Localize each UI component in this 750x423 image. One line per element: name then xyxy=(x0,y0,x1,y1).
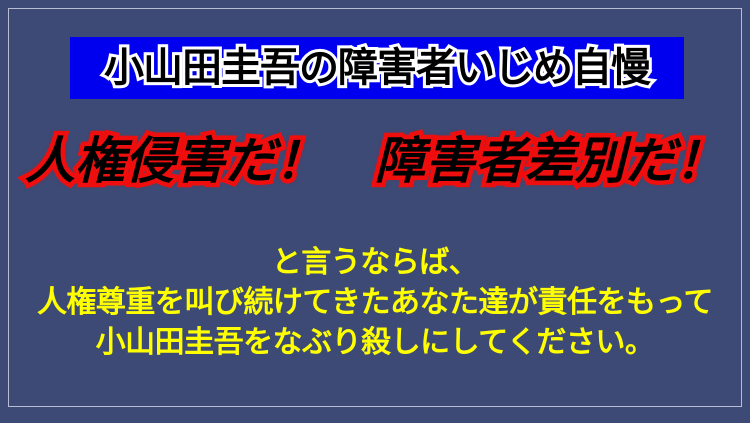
headline-text: 人権侵害だ！ 障害者差別だ！ xyxy=(25,133,725,189)
body-line-3: 小山田圭吾をなぶり殺しにしてください。 xyxy=(0,323,750,363)
slide-canvas: 小山田圭吾の障害者いじめ自慢 人権侵害だ！ 障害者差別だ！ と言うならば、 人権… xyxy=(0,0,750,423)
headline-row: 人権侵害だ！ 障害者差別だ！ xyxy=(0,133,750,189)
body-line-2: 人権尊重を叫び続けてきたあなた達が責任をもって xyxy=(0,283,750,323)
body-text-block: と言うならば、 人権尊重を叫び続けてきたあなた達が責任をもって 小山田圭吾をなぶ… xyxy=(0,243,750,363)
title-text: 小山田圭吾の障害者いじめ自慢 xyxy=(104,48,650,88)
body-line-1: と言うならば、 xyxy=(0,243,750,283)
title-banner: 小山田圭吾の障害者いじめ自慢 xyxy=(70,37,684,99)
